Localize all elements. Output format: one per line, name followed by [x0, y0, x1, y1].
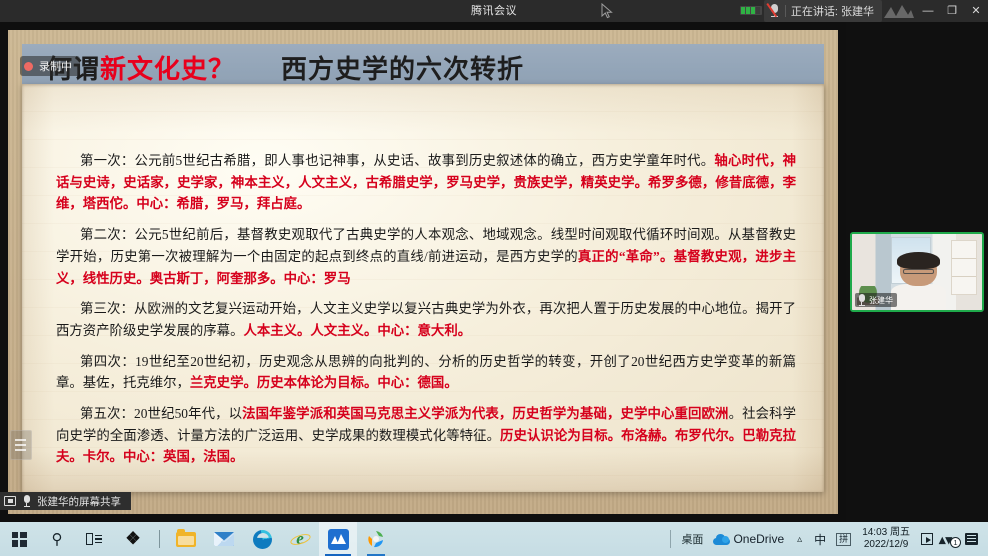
taskbar-left-group: ⚲ ❖ [0, 522, 395, 556]
slide-tools-handle[interactable] [10, 430, 32, 460]
onedrive-label: OneDrive [733, 532, 784, 546]
network-button[interactable]: ▴▾ 1 [938, 522, 960, 556]
text-run: 法国年鉴学派和英国马克思主义学派为代表，历史哲学为基础，史学中心重回欧洲 [242, 406, 728, 421]
mail-icon [214, 532, 234, 546]
maximize-button[interactable]: ❐ [940, 0, 964, 22]
slide-paragraph-fifth-turn: 第五次：20世纪50年代，以法国年鉴学派和英国马克思主义学派为代表，历史哲学为基… [56, 403, 796, 468]
active-speaker-pill[interactable]: 正在讲话: 张建华 [764, 0, 882, 22]
screen-share-status-strip: 张建华的屏幕共享 [0, 492, 131, 510]
chevron-up-icon[interactable]: ▵ [790, 534, 809, 545]
shared-screen-stage[interactable]: 何谓新文化史？西方史学的六次转折 录制中 第一次：公元前5世纪古希腊，即人事也记… [0, 22, 846, 522]
taskbar-app-explorer[interactable] [167, 522, 205, 556]
taskbar-clock[interactable]: 14:03 周五 2022/12/9 [856, 527, 916, 552]
internet-explorer-icon: e [291, 530, 310, 549]
windows-logo-icon [12, 532, 27, 547]
taskbar-app-internet-explorer[interactable]: e [281, 522, 319, 556]
clock-time: 14:03 周五 [862, 527, 910, 540]
participant-nameplate: 张建华 [855, 293, 897, 307]
mic-off-icon [769, 4, 780, 18]
scholar-app-icon: ❖ [122, 528, 144, 550]
recording-dot-icon [24, 62, 33, 71]
text-run: 第五次：20世纪50年代，以 [80, 406, 242, 421]
recycle-icon [366, 529, 386, 549]
cursor-arrow-icon [601, 3, 613, 19]
ime-mode-label[interactable]: 拼 [836, 533, 851, 546]
video-shelf-decor [951, 240, 977, 295]
slide-paragraph-third-turn: 第三次：从欧洲的文艺复兴运动开始，人文主义史学以复兴古典史学为外衣，再次把人置于… [56, 298, 796, 341]
taskbar-divider [159, 530, 160, 548]
task-view-button[interactable] [76, 522, 114, 556]
taskbar-system-tray: 桌面 OneDrive ▵ 中 拼 14:03 周五 2022/12/9 ▴▾ … [664, 522, 988, 556]
onedrive-item[interactable]: OneDrive [707, 532, 790, 546]
edge-icon [253, 530, 272, 549]
ime-language-label[interactable]: 中 [809, 531, 831, 548]
divider [670, 530, 671, 548]
media-play-icon [921, 533, 933, 545]
participant-name: 张建华 [869, 295, 893, 306]
windows-taskbar: ⚲ ❖ [0, 522, 988, 556]
slide-paragraph-fourth-turn: 第四次：19世纪至20世纪初，历史观念从思辨的向批判的、分析的历史哲学的转变，开… [56, 351, 796, 394]
cloud-icon [713, 534, 730, 545]
slide-body-text: 第一次：公元前5世纪古希腊，即人事也记神事，从史话、故事到历史叙述体的确立，西方… [56, 150, 796, 477]
network-icon: ▴▾ 1 [939, 532, 959, 546]
minimize-button[interactable]: — [916, 0, 940, 22]
search-icon: ⚲ [46, 528, 68, 550]
recording-label: 录制中 [39, 58, 72, 74]
slide-title-subtitle: 西方史学的六次转折 [281, 55, 524, 84]
notification-icon [965, 533, 978, 545]
network-badge: 1 [950, 537, 961, 548]
divider [785, 5, 786, 17]
taskbar-app-tencent-meeting[interactable] [319, 522, 357, 556]
text-run: 第一次：公元前5世纪古希腊，即人事也记神事，从史话、故事到历史叙述体的确立，西方… [80, 153, 714, 168]
folder-icon [176, 532, 196, 547]
start-button[interactable] [0, 522, 38, 556]
task-view-icon [86, 532, 104, 546]
monitor-icon [4, 496, 16, 506]
taskbar-app-scholar[interactable]: ❖ [114, 522, 152, 556]
recording-badge: 录制中 [20, 56, 80, 76]
slide-parchment: 第一次：公元前5世纪古希腊，即人事也记神事，从史话、故事到历史叙述体的确立，西方… [22, 84, 824, 492]
slide-paragraph-first-turn: 第一次：公元前5世纪古希腊，即人事也记神事，从史话、故事到历史叙述体的确立，西方… [56, 150, 796, 215]
video-tile-active-speaker[interactable]: 张建华 [850, 232, 984, 312]
screen-share-label: 张建华的屏幕共享 [37, 494, 121, 509]
taskbar-app-mail[interactable] [205, 522, 243, 556]
presentation-slide: 何谓新文化史？西方史学的六次转折 录制中 第一次：公元前5世纪古希腊，即人事也记… [8, 30, 838, 514]
screen-root: 腾讯会议 正在讲话: 张建华 — ❐ ✕ 何谓新文化史？ [0, 0, 988, 556]
slide-title: 何谓新文化史？西方史学的六次转折 [22, 49, 524, 86]
audio-level-meter [740, 6, 762, 15]
close-button[interactable]: ✕ [964, 0, 988, 22]
media-play-button[interactable] [916, 522, 938, 556]
desktop-peek-label[interactable]: 桌面 [677, 531, 707, 547]
notification-button[interactable] [960, 522, 982, 556]
microphone-icon [857, 294, 866, 306]
participant-video-panel: 张建华 [846, 22, 988, 522]
microphone-icon [22, 495, 31, 507]
peaks-logo-icon [884, 4, 914, 18]
taskbar-app-edge[interactable] [243, 522, 281, 556]
video-person [891, 254, 946, 310]
slide-title-highlight: 新文化史？ [100, 55, 235, 84]
slide-paragraph-second-turn: 第二次：公元5世纪前后，基督教史观取代了古典史学的人本观念、地域观念。线型时间观… [56, 224, 796, 289]
clock-date: 2022/12/9 [862, 539, 910, 552]
app-titlebar: 腾讯会议 正在讲话: 张建华 — ❐ ✕ [0, 0, 988, 22]
tencent-meeting-icon [328, 529, 349, 550]
search-button[interactable]: ⚲ [38, 522, 76, 556]
taskbar-app-recycle[interactable] [357, 522, 395, 556]
text-run: 兰克史学。历史本体论为目标。中心：德国。 [190, 375, 458, 390]
active-speaker-label: 正在讲话: 张建华 [791, 3, 874, 19]
window-controls: — ❐ ✕ [916, 0, 988, 22]
text-run: 人本主义。人文主义。中心：意大利。 [243, 323, 471, 338]
